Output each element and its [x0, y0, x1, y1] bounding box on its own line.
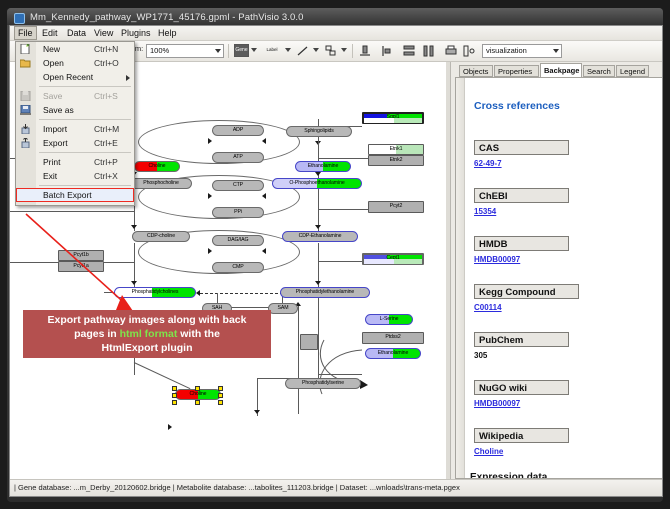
open-folder-icon	[20, 58, 31, 68]
menu-item-accel: Ctrl+X	[94, 169, 118, 183]
arrow-icon	[262, 193, 266, 199]
arrow-icon	[262, 248, 266, 254]
gene-product-dropdown-icon[interactable]	[251, 48, 257, 52]
metabolite-node[interactable]: Phosphatidylethanolamine	[280, 287, 370, 298]
edge	[10, 211, 134, 212]
arrow-icon	[208, 193, 212, 199]
menu-item-open-recent[interactable]: Open Recent	[16, 70, 134, 84]
menu-item-label: Open Recent	[43, 70, 93, 84]
metabolite-node-lserine[interactable]: L-Serine	[365, 314, 413, 325]
menu-item-import[interactable]: Import Ctrl+M	[16, 122, 134, 136]
menu-file[interactable]: File	[14, 26, 37, 40]
arrow-icon	[254, 410, 260, 414]
selection-handle[interactable]	[172, 393, 177, 398]
line-tool-button[interactable]	[296, 44, 310, 58]
arrow-icon	[315, 172, 321, 176]
menu-item-accel: Ctrl+N	[94, 42, 118, 56]
metabolite-node[interactable]: ATP	[212, 152, 264, 163]
application-area: File Edit Data View Plugins Help Zoom: 1…	[9, 25, 663, 497]
visualization-combobox[interactable]: visualization	[482, 44, 562, 58]
gene-node-pcyt1b[interactable]: Pcyt1b	[58, 250, 104, 261]
gene-node-ptdss2[interactable]: Ptdss2	[362, 332, 424, 344]
stack-tool-button[interactable]	[462, 44, 476, 58]
distribute-vertical-tool-button[interactable]	[402, 44, 416, 58]
menu-item-label: Save as	[43, 103, 74, 117]
edge	[134, 362, 191, 389]
menu-separator	[39, 119, 131, 120]
menu-separator	[39, 185, 131, 186]
side-panel-tabs: Objects Properties Backpage Search Legen…	[455, 63, 662, 77]
interaction-dropdown-icon[interactable]	[341, 48, 347, 52]
selection-handle[interactable]	[195, 400, 200, 405]
xref-wikipedia: Wikipedia Choline	[474, 428, 569, 456]
tab-backpage[interactable]: Backpage	[540, 63, 582, 78]
selection-handle[interactable]	[172, 400, 177, 405]
menu-help[interactable]: Help	[154, 27, 181, 39]
callout-line-3: HtmlExport plugin	[48, 341, 247, 355]
menu-item-label: New	[43, 42, 60, 56]
align-left-tool-button[interactable]	[380, 44, 394, 58]
xref-db-label: Kegg Compound	[474, 284, 579, 299]
status-text: | Gene database: ...m_Derby_20120602.bri…	[14, 483, 460, 492]
xref-value-link[interactable]: 15354	[474, 207, 569, 216]
gene-product-tool-button[interactable]: Gene	[234, 44, 248, 58]
zoom-combobox[interactable]: 100%	[146, 44, 224, 58]
chevron-down-icon	[215, 49, 221, 53]
xref-value-link[interactable]: 62-49-7	[474, 159, 569, 168]
xref-value-text: 305	[474, 351, 569, 360]
metabolite-node[interactable]: CMP	[212, 262, 264, 273]
gene-node-pcyt2[interactable]: Pcyt2	[368, 201, 424, 213]
metabolite-node[interactable]: CDP-Ethanolamine	[282, 231, 358, 242]
callout-highlight: html format	[120, 328, 178, 340]
arrow-icon	[262, 138, 266, 144]
menu-item-open[interactable]: Open Ctrl+O	[16, 56, 134, 70]
panel-scrollbar[interactable]	[456, 78, 465, 478]
line-dropdown-icon[interactable]	[313, 48, 319, 52]
export-icon	[20, 138, 31, 148]
metabolite-node-choline[interactable]: Choline	[134, 161, 180, 172]
screen: Mm_Kennedy_pathway_WP1771_45176.gpml - P…	[0, 0, 670, 509]
menu-view[interactable]: View	[90, 27, 117, 39]
edge	[318, 374, 362, 375]
menu-separator	[39, 86, 131, 87]
metabolite-node[interactable]: SAM	[268, 303, 298, 314]
callout-line-2-b: with the	[177, 328, 220, 340]
gene-node-etnk1[interactable]: Etnk1	[368, 144, 424, 155]
xref-value-link[interactable]: C00114	[474, 303, 579, 312]
metabolite-node-phosphatidylcholines[interactable]: Phosphatidylcholines	[114, 287, 196, 298]
metabolite-node[interactable]: Phosphatidylserine	[285, 378, 361, 389]
gene-node-etnk2[interactable]: Etnk2	[368, 155, 424, 166]
gene-node-unlabeled[interactable]	[300, 334, 318, 350]
pathvisio-icon	[14, 13, 25, 24]
xref-db-label: HMDB	[474, 236, 569, 251]
xref-kegg: Kegg Compound C00114	[474, 284, 579, 312]
menu-data[interactable]: Data	[63, 27, 90, 39]
edge	[318, 158, 368, 159]
annotation-callout: Export pathway images along with back pa…	[23, 310, 271, 358]
xref-db-label: ChEBI	[474, 188, 569, 203]
zoom-value: 100%	[150, 45, 169, 57]
callout-line-2-a: pages in	[74, 328, 120, 340]
xref-db-label: PubChem	[474, 332, 569, 347]
xref-value-link[interactable]: HMDB00097	[474, 399, 569, 408]
visualization-value: visualization	[486, 45, 527, 57]
selection-handle[interactable]	[218, 386, 223, 391]
metabolite-node[interactable]: ADP	[212, 125, 264, 136]
edge	[104, 292, 112, 293]
menu-item-label: Export	[43, 136, 68, 150]
gene-expression-cell	[394, 118, 422, 123]
xref-value-link[interactable]: HMDB00097	[474, 255, 569, 264]
edge	[298, 304, 299, 414]
xref-nugo: NuGO wiki HMDB00097	[474, 380, 569, 408]
gene-expression-cell	[364, 118, 394, 123]
menu-item-save: Save Ctrl+S	[16, 89, 134, 103]
tab-search[interactable]: Search	[583, 65, 615, 77]
arrow-icon	[131, 281, 137, 285]
callout-line-2: pages in html format with the	[48, 327, 247, 341]
save-as-icon	[20, 105, 31, 115]
metabolite-node[interactable]: Sphingolipids	[286, 126, 352, 137]
menu-plugins[interactable]: Plugins	[117, 27, 155, 39]
metabolite-node[interactable]: CTP	[212, 180, 264, 191]
menu-item-save-as[interactable]: Save as	[16, 103, 134, 117]
metabolite-node[interactable]: DAG/IAG	[212, 235, 264, 246]
metabolite-node[interactable]: Phosphocholine	[130, 178, 192, 189]
arrow-icon	[196, 290, 200, 296]
menu-separator	[39, 152, 131, 153]
side-panel: Objects Properties Backpage Search Legen…	[451, 62, 662, 480]
edge	[318, 261, 368, 262]
toolbar-separator	[228, 44, 229, 58]
callout-line-1: Export pathway images along with back	[48, 313, 247, 327]
vertical-splitter[interactable]	[446, 62, 450, 480]
xref-chebi: ChEBI 15354	[474, 188, 569, 216]
menu-item-new[interactable]: New Ctrl+N	[16, 42, 134, 56]
toolbar-separator-2	[352, 44, 353, 58]
metabolite-node[interactable]: PPi	[212, 207, 264, 218]
menu-item-accel: Ctrl+M	[94, 122, 119, 136]
expression-data-title: Expression data	[470, 472, 547, 479]
xref-hmdb: HMDB HMDB00097	[474, 236, 569, 264]
menu-item-accel: Ctrl+S	[94, 89, 118, 103]
selection-handle[interactable]	[172, 386, 177, 391]
arrow-icon	[315, 281, 321, 285]
menu-item-accel: Ctrl+O	[94, 56, 119, 70]
xref-value-link[interactable]: Choline	[474, 447, 569, 456]
menu-item-label: Batch Export	[43, 188, 92, 202]
xref-db-label: CAS	[474, 140, 569, 155]
gene-expression-cell	[364, 259, 394, 264]
tab-properties[interactable]: Properties	[494, 65, 539, 77]
menu-item-export[interactable]: Export Ctrl+E	[16, 136, 134, 150]
print-tool-button[interactable]	[444, 44, 458, 58]
distribute-horizontal-tool-button[interactable]	[422, 44, 436, 58]
metabolite-node-ethanolamine-2[interactable]: Ethanolamine	[365, 348, 421, 359]
selection-handle[interactable]	[218, 400, 223, 405]
menu-item-exit[interactable]: Exit Ctrl+X	[16, 169, 134, 183]
label-dropdown-icon[interactable]	[285, 48, 291, 52]
xref-db-label: NuGO wiki	[474, 380, 569, 395]
selection-handle[interactable]	[195, 386, 200, 391]
status-bar: | Gene database: ...m_Derby_20120602.bri…	[10, 479, 662, 496]
menu-item-label: Exit	[43, 169, 57, 183]
save-disk-icon	[20, 91, 31, 101]
menu-item-accel: Ctrl+P	[94, 155, 118, 169]
align-top-tool-button[interactable]	[358, 44, 372, 58]
tab-objects[interactable]: Objects	[459, 65, 493, 77]
xref-pubchem: PubChem 305	[474, 332, 569, 360]
menu-item-print[interactable]: Print Ctrl+P	[16, 155, 134, 169]
arrow-icon	[208, 248, 212, 254]
menu-item-label: Print	[43, 155, 60, 169]
menu-item-batch-export[interactable]: Batch Export	[16, 188, 134, 202]
xref-db-label: Wikipedia	[474, 428, 569, 443]
chevron-down-icon-2	[553, 49, 559, 53]
file-menu-popup[interactable]: New Ctrl+N Open Ctrl+O Open Recent Save	[15, 41, 135, 206]
gene-node-pcyt1a[interactable]: Pcyt1a	[58, 261, 104, 272]
metabolite-node[interactable]: O-Phosphoethanolamine	[272, 178, 362, 189]
xref-cas: CAS 62-49-7	[474, 140, 569, 168]
metabolite-node-ethanolamine[interactable]: Ethanolamine	[295, 161, 351, 172]
new-document-icon	[20, 44, 31, 54]
window-title: Mm_Kennedy_pathway_WP1771_45176.gpml - P…	[30, 10, 304, 25]
arrow-icon	[168, 424, 172, 430]
selection-handle[interactable]	[218, 393, 223, 398]
tab-legend[interactable]: Legend	[616, 65, 649, 77]
menu-item-accel: Ctrl+E	[94, 136, 118, 150]
arrow-icon	[208, 138, 212, 144]
gene-expression-cell	[394, 259, 422, 264]
arrow-icon	[131, 225, 137, 229]
menu-item-label: Import	[43, 122, 67, 136]
arrow-icon	[315, 225, 321, 229]
metabolite-node[interactable]: CDP-choline	[132, 231, 190, 242]
cross-references-title: Cross references	[474, 100, 560, 112]
backpage-panel[interactable]: Cross references CAS 62-49-7 ChEBI 15354…	[455, 77, 663, 479]
menu-bar: File Edit Data View Plugins Help	[10, 26, 662, 41]
submenu-arrow-icon	[126, 75, 130, 81]
label-tool-button[interactable]: Label	[262, 44, 284, 58]
menu-edit[interactable]: Edit	[38, 27, 62, 39]
import-icon	[20, 124, 31, 134]
edge	[318, 209, 368, 210]
menu-item-label: Save	[43, 89, 62, 103]
menu-item-label: Open	[43, 56, 64, 70]
interaction-tool-button[interactable]	[324, 44, 338, 58]
